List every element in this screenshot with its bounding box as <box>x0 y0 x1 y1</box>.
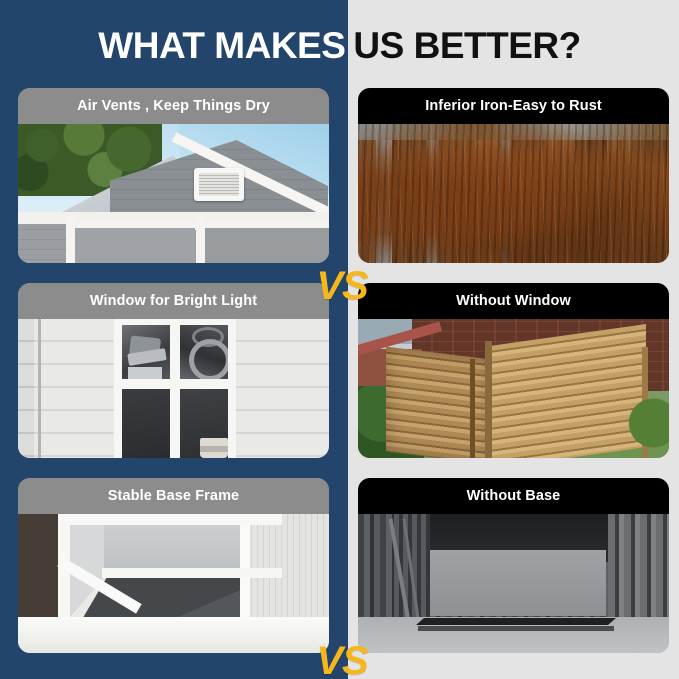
shed-wall-with-window-photo <box>18 319 329 458</box>
open-doorway <box>428 550 606 616</box>
shed-gable-with-air-vent-photo <box>18 124 329 263</box>
feature-card-air-vents-label: Air Vents , Keep Things Dry <box>18 88 329 124</box>
feature-card-window[interactable]: Window for Bright Light <box>18 283 329 458</box>
page-title-right: US BETTER? <box>345 22 580 70</box>
door-frame-right <box>196 216 205 263</box>
window-pane-top-left <box>122 325 170 379</box>
metal-wall-right-ribs <box>608 514 669 626</box>
page-title: WHAT MAKES US BETTER? <box>0 22 679 70</box>
wall-edge-strip <box>18 319 34 458</box>
base-frame-post <box>58 514 70 634</box>
shed-bottom-edge-highlight <box>418 626 614 631</box>
feature-card-base-frame[interactable]: Stable Base Frame <box>18 478 329 653</box>
stored-wheel-item <box>189 339 228 379</box>
comparison-row-3: Stable Base Frame VS Without Base <box>0 478 679 653</box>
door-panel-right <box>205 228 329 263</box>
base-frame-top-rail <box>62 514 282 525</box>
door-frame-left <box>66 216 75 263</box>
feature-card-without-base[interactable]: Without Base <box>358 478 669 653</box>
shed-door-edge <box>470 359 475 458</box>
shed-bottom-edge <box>416 618 616 625</box>
window-pane-bottom-left <box>122 389 170 458</box>
comparison-row-1: Air Vents , Keep Things Dry VS Inferio <box>0 88 679 263</box>
feature-card-base-frame-label: Stable Base Frame <box>18 478 329 514</box>
feature-card-without-window-label: Without Window <box>358 283 669 319</box>
page-title-left: WHAT MAKES <box>98 22 345 70</box>
rusted-corrugated-metal-photo <box>358 124 669 263</box>
shed-corner-post <box>485 341 492 458</box>
window-pane-bottom-right <box>180 389 228 458</box>
climbing-vine <box>617 388 669 458</box>
metal-shed-no-base-photo <box>358 514 669 653</box>
feature-card-inferior-iron-label: Inferior Iron-Easy to Rust <box>358 88 669 124</box>
wall-edge-line <box>38 319 41 458</box>
stored-bucket-item-label <box>200 446 228 452</box>
feature-card-window-label: Window for Bright Light <box>18 283 329 319</box>
shed-interior-white-base-frame-photo <box>18 514 329 653</box>
wooden-slat-shed-no-window-photo <box>358 319 669 458</box>
feature-card-air-vents[interactable]: Air Vents , Keep Things Dry <box>18 88 329 263</box>
corrugation-grain <box>358 124 669 263</box>
base-frame-floor-edge <box>18 617 329 653</box>
door-panel-left <box>75 228 195 263</box>
vs-badge-2: VS <box>311 639 373 679</box>
comparison-row-2: Window for Bright Light <box>0 283 679 458</box>
comparison-infographic: WHAT MAKES US BETTER? Air Vents , Keep T… <box>0 0 679 679</box>
vs-badge-1: VS <box>311 264 373 308</box>
window-pane-top-right <box>180 325 228 379</box>
feature-card-without-window[interactable]: Without Window <box>358 283 669 458</box>
feature-card-inferior-iron[interactable]: Inferior Iron-Easy to Rust <box>358 88 669 263</box>
feature-card-without-base-label: Without Base <box>358 478 669 514</box>
stored-box-item <box>128 367 162 379</box>
louvered-air-vent <box>194 168 244 201</box>
base-frame-mid-rail <box>102 568 282 578</box>
